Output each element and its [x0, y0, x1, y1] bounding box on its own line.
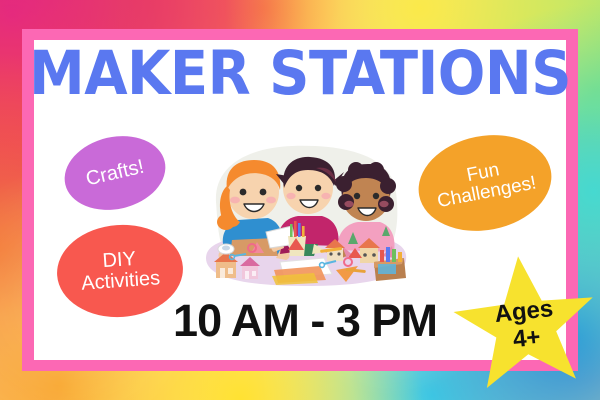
badge-diy-line2: Activities	[81, 268, 161, 294]
star-label-group: Ages 4+	[448, 249, 600, 396]
poster-canvas: MAKER STATIONS	[0, 0, 600, 400]
star-line1: Ages	[493, 296, 554, 328]
three-kids-crafting-illustration	[196, 140, 412, 310]
badge-crafts-label: Crafts!	[84, 156, 146, 190]
page-title: MAKER STATIONS	[29, 44, 572, 104]
badge-ages-star[interactable]: Ages 4+	[448, 249, 600, 396]
star-line2: 4+	[512, 324, 542, 353]
event-time: 10 AM - 3 PM	[140, 296, 470, 346]
